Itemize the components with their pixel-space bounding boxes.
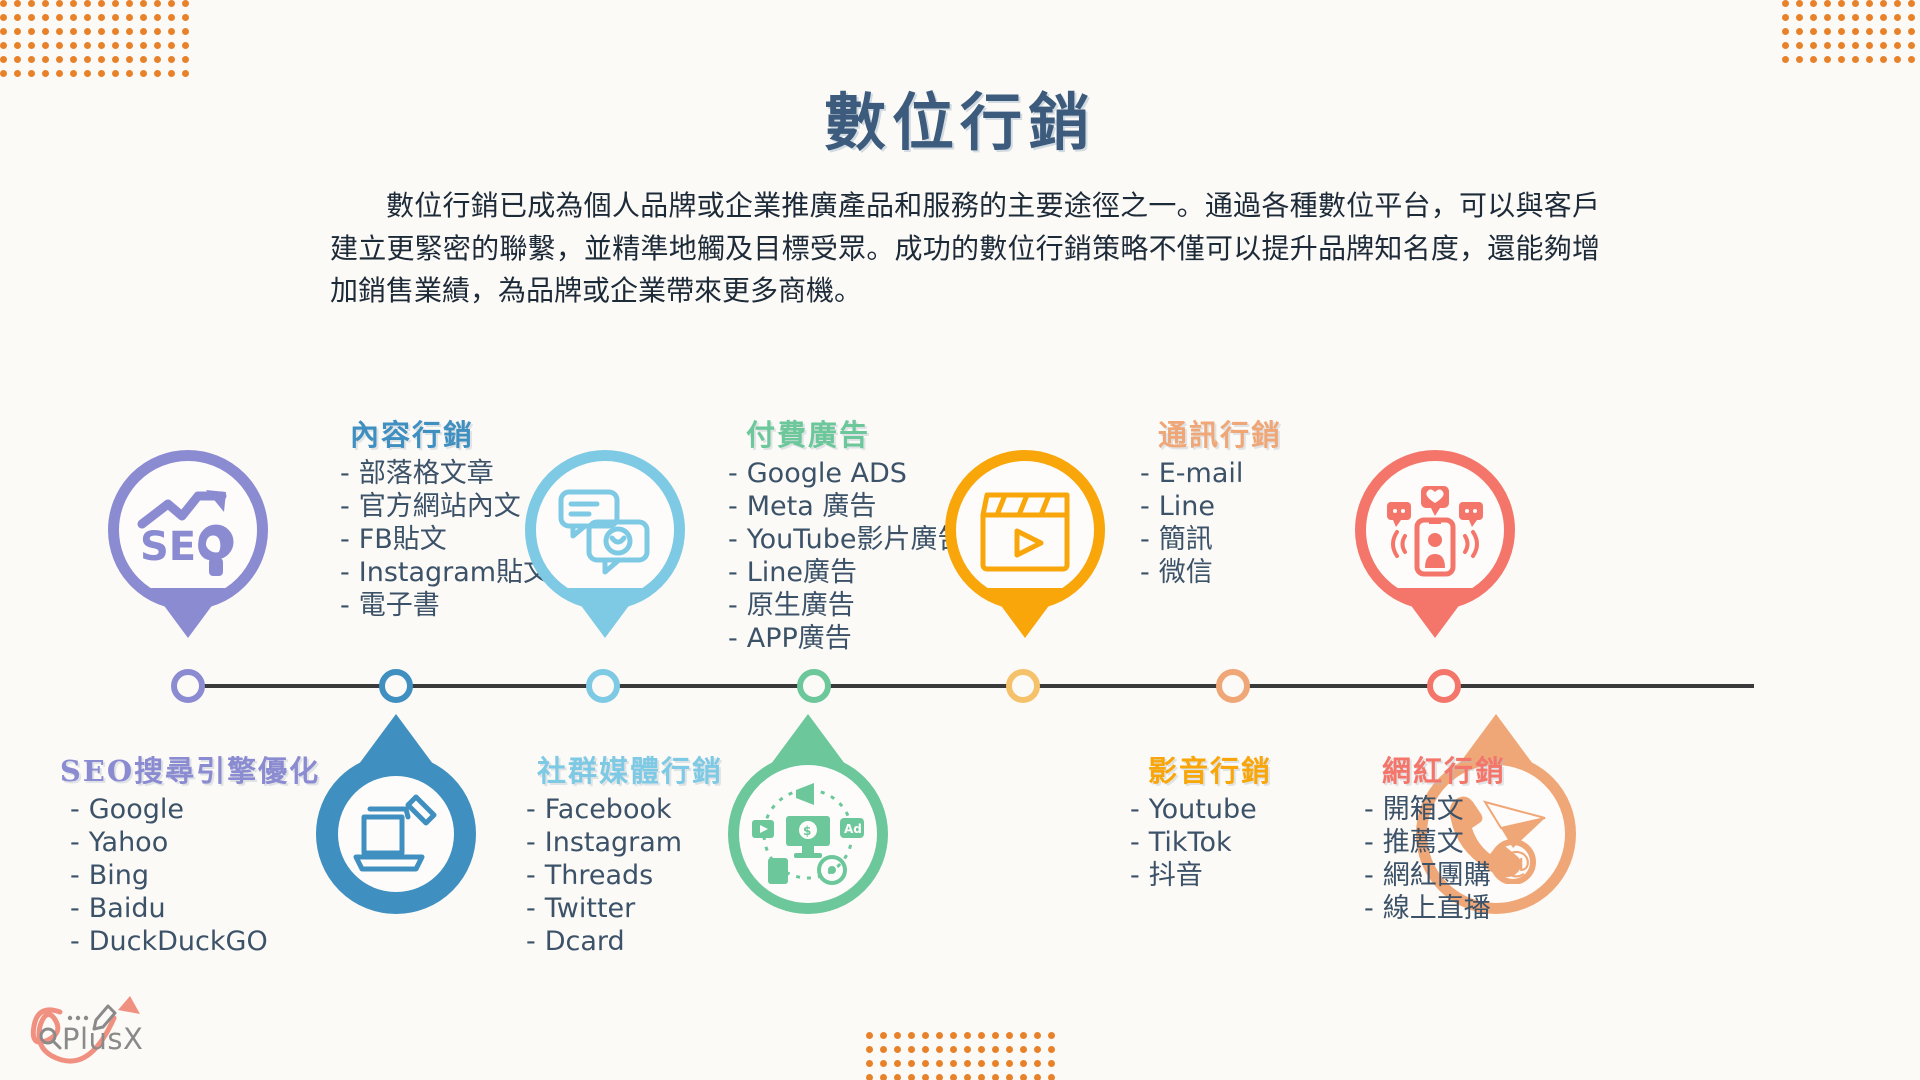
block-seo: SEO搜尋引擎優化 -Google -Yahoo -Bing -Baidu -D…	[40, 748, 340, 959]
list-item: -Baidu	[70, 893, 340, 926]
document-pencil-icon	[316, 754, 476, 914]
dot-pattern-bottom-center	[866, 1032, 1056, 1076]
block-heading-messaging: 通訊行銷	[1140, 412, 1420, 454]
clapperboard-play-icon	[945, 450, 1105, 610]
list-item: -開箱文	[1364, 794, 1618, 827]
list-item: -線上直播	[1364, 893, 1618, 926]
brand-logo: PlusX	[18, 992, 158, 1078]
timeline-node-6[interactable]	[1216, 669, 1250, 703]
block-list-influencer: -開箱文 -推薦文 -網紅團購 -線上直播	[1338, 794, 1618, 926]
list-item: -推薦文	[1364, 827, 1618, 860]
chat-bubbles-icon	[525, 450, 685, 610]
marker-pin-social[interactable]	[525, 450, 685, 610]
block-influencer: 網紅行銷 -開箱文 -推薦文 -網紅團購 -線上直播	[1338, 748, 1618, 926]
timeline-node-1[interactable]	[171, 669, 205, 703]
seo-growth-icon: SEO	[108, 450, 268, 610]
brand-wordmark: PlusX	[62, 1022, 143, 1056]
timeline-node-5[interactable]	[1006, 669, 1040, 703]
intro-paragraph: 數位行銷已成為個人品牌或企業推廣產品和服務的主要途徑之一。通過各種數位平台，可以…	[330, 185, 1600, 313]
block-heading-paid-ads: 付費廣告	[728, 412, 1048, 454]
list-item: -網紅團購	[1364, 860, 1618, 893]
marker-pin-video[interactable]	[945, 450, 1105, 610]
dot-pattern-top-right	[1782, 0, 1920, 62]
dot-pattern-top-left	[0, 0, 190, 78]
timeline-node-4[interactable]	[797, 669, 831, 703]
timeline-node-7[interactable]	[1427, 669, 1461, 703]
page-title: 數位行銷	[0, 72, 1920, 162]
marker-drop-paid-ads[interactable]: $ Ad	[728, 742, 888, 914]
infographic-canvas: 數位行銷 數位行銷已成為個人品牌或企業推廣產品和服務的主要途徑之一。通過各種數位…	[0, 0, 1920, 1080]
svg-text:Ad: Ad	[844, 822, 862, 836]
block-heading-seo: SEO搜尋引擎優化	[40, 748, 340, 790]
list-item: -Dcard	[526, 926, 780, 959]
block-heading-content: 內容行銷	[310, 412, 610, 454]
svg-text:$: $	[803, 824, 811, 838]
ad-campaign-icon: $ Ad	[728, 754, 888, 914]
marker-drop-content[interactable]	[316, 742, 476, 914]
list-item: -DuckDuckGO	[70, 926, 340, 959]
timeline-node-3[interactable]	[586, 669, 620, 703]
timeline-axis	[188, 684, 1754, 688]
timeline-node-2[interactable]	[379, 669, 413, 703]
marker-pin-influencer[interactable]	[1355, 450, 1515, 610]
list-item: -Yahoo	[70, 827, 340, 860]
list-item: -Bing	[70, 860, 340, 893]
block-heading-influencer: 網紅行銷	[1338, 748, 1618, 790]
marker-pin-seo[interactable]: SEO	[108, 450, 268, 610]
block-list-seo: -Google -Yahoo -Bing -Baidu -DuckDuckGO	[40, 794, 340, 959]
list-item: -Google	[70, 794, 340, 827]
phone-livestream-icon	[1355, 450, 1515, 610]
